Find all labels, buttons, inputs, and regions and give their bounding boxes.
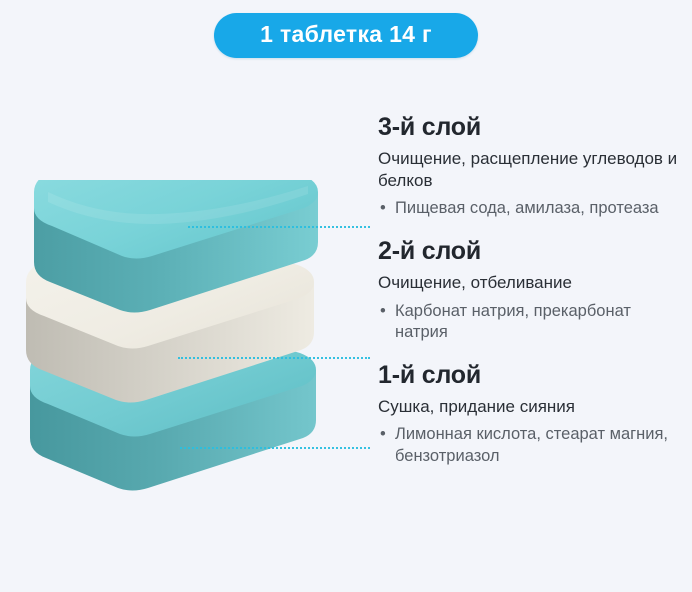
dose-badge: 1 таблетка 14 г (214, 13, 478, 58)
layer-block-1: 1-й слой Сушка, придание сияния • Лимонн… (378, 360, 686, 468)
layer-3-title: 3-й слой (378, 112, 686, 143)
layer-1-title: 1-й слой (378, 360, 686, 391)
layer-1-bullet-text: Лимонная кислота, стеарат магния, бензот… (395, 425, 668, 464)
layer-2-subtitle: Очищение, отбеливание (378, 272, 686, 294)
layer-2-bullet-text: Карбонат натрия, прекарбонат натрия (395, 302, 631, 341)
layer-3-bullet-item: • Пищевая сода, амилаза, протеаза (378, 198, 686, 219)
leader-line-layer-3 (188, 226, 370, 228)
bullet-dot-icon: • (380, 424, 386, 445)
layer-1-bullet-list: • Лимонная кислота, стеарат магния, бенз… (378, 424, 686, 467)
layer-block-3: 3-й слой Очищение, расщепление углеводов… (378, 112, 686, 220)
layer-2-bullet-item: • Карбонат натрия, прекарбонат натрия (378, 301, 686, 344)
layer-1-subtitle: Сушка, придание сияния (378, 396, 686, 418)
bullet-dot-icon: • (380, 198, 386, 219)
bullet-dot-icon: • (380, 301, 386, 322)
layer-2-title: 2-й слой (378, 236, 686, 267)
badge-container: 1 таблетка 14 г (0, 13, 692, 58)
leader-line-layer-1 (180, 447, 370, 449)
layer-3-bullet-list: • Пищевая сода, амилаза, протеаза (378, 198, 686, 219)
layer-2-bullet-list: • Карбонат натрия, прекарбонат натрия (378, 301, 686, 344)
layer-1-bullet-item: • Лимонная кислота, стеарат магния, бенз… (378, 424, 686, 467)
layer-3-subtitle: Очищение, расщепление углеводов и белков (378, 148, 686, 191)
layer-3-bullet-text: Пищевая сода, амилаза, протеаза (395, 199, 659, 217)
layer-descriptions: 3-й слой Очищение, расщепление углеводов… (378, 112, 686, 469)
layer-block-2: 2-й слой Очищение, отбеливание • Карбона… (378, 236, 686, 344)
tablet-stack-illustration (8, 180, 348, 510)
leader-line-layer-2 (178, 357, 370, 359)
